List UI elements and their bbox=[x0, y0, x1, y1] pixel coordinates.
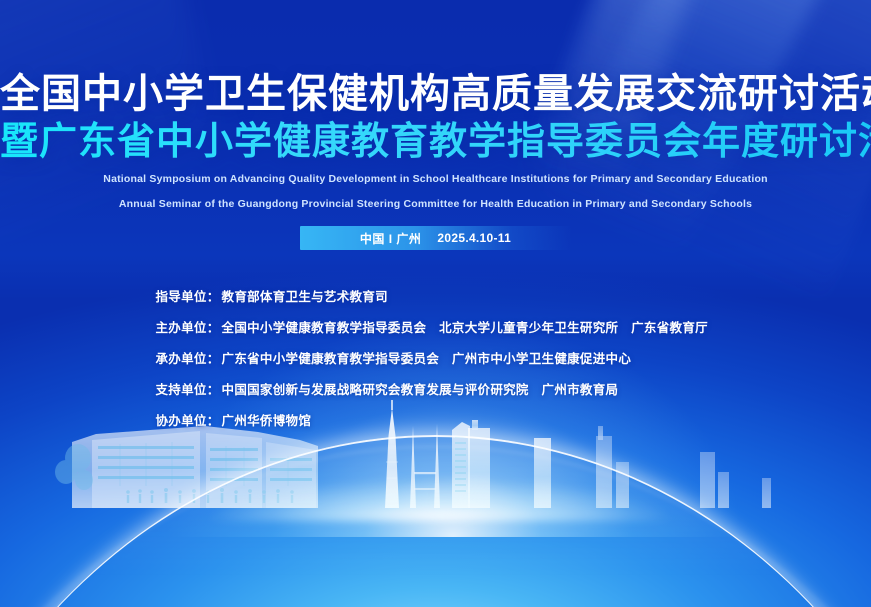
org-label: 承办单位： bbox=[156, 348, 220, 367]
date-location-badge-row: 中国 I 广州 2025.4.10-11 bbox=[0, 226, 871, 250]
org-label: 主办单位： bbox=[156, 317, 220, 336]
org-label: 协办单位： bbox=[156, 410, 220, 429]
horizon-arc bbox=[0, 435, 871, 607]
organization-row: 承办单位： 广东省中小学健康教育教学指导委员会 广州市中小学卫生健康促进中心 bbox=[0, 348, 871, 367]
title-block: 全国中小学卫生保健机构高质量发展交流研讨活动 暨广东省中小学健康教育教学指导委员… bbox=[0, 72, 871, 212]
organization-row: 主办单位： 全国中小学健康教育教学指导委员会 北京大学儿童青少年卫生研究所 广东… bbox=[0, 317, 871, 336]
skyline-haze bbox=[180, 463, 700, 521]
org-label: 指导单位： bbox=[156, 286, 220, 305]
poster-subtitle-en-line2: Annual Seminar of the Guangdong Provinci… bbox=[0, 197, 871, 212]
trees bbox=[55, 444, 93, 490]
org-label: 支持单位： bbox=[156, 379, 220, 398]
poster-subtitle-en-line1: National Symposium on Advancing Quality … bbox=[0, 172, 871, 187]
horizon-arc-outer bbox=[0, 446, 871, 607]
org-value: 中国国家创新与发展战略研究会教育发展与评价研究院 广州市教育局 bbox=[222, 379, 619, 398]
poster-title-line1: 全国中小学卫生保健机构高质量发展交流研讨活动 bbox=[0, 72, 871, 116]
organization-row: 支持单位： 中国国家创新与发展战略研究会教育发展与评价研究院 广州市教育局 bbox=[0, 379, 871, 398]
badge-date: 2025.4.10-11 bbox=[437, 231, 511, 245]
org-value: 广东省中小学健康教育教学指导委员会 广州市中小学卫生健康促进中心 bbox=[222, 348, 632, 367]
badge-location: 中国 I 广州 bbox=[360, 230, 422, 247]
org-value: 广州华侨博物馆 bbox=[222, 410, 312, 429]
conference-poster: 全国中小学卫生保健机构高质量发展交流研讨活动 暨广东省中小学健康教育教学指导委员… bbox=[0, 0, 871, 607]
organization-list: 指导单位： 教育部体育卫生与艺术教育司 主办单位： 全国中小学健康教育教学指导委… bbox=[0, 286, 871, 441]
organization-row: 协办单位： 广州华侨博物馆 bbox=[0, 410, 871, 429]
organization-row: 指导单位： 教育部体育卫生与艺术教育司 bbox=[0, 286, 871, 305]
date-location-badge: 中国 I 广州 2025.4.10-11 bbox=[300, 226, 572, 250]
org-value: 教育部体育卫生与艺术教育司 bbox=[222, 286, 388, 305]
poster-title-line2: 暨广东省中小学健康教育教学指导委员会年度研讨活动 bbox=[0, 120, 871, 162]
students bbox=[126, 488, 294, 503]
org-value: 全国中小学健康教育教学指导委员会 北京大学儿童青少年卫生研究所 广东省教育厅 bbox=[222, 317, 708, 336]
